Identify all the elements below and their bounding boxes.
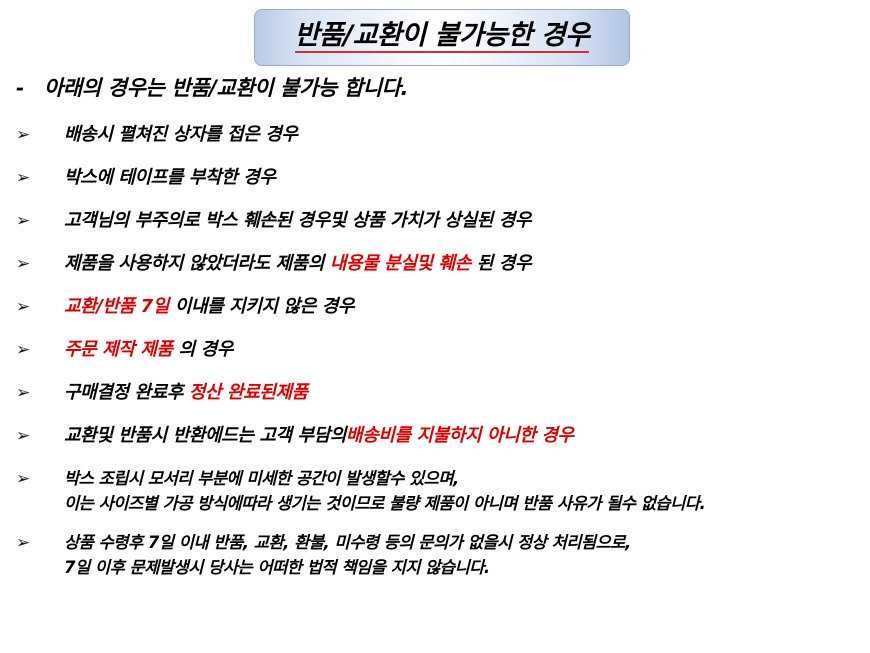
list-item: ➢박스에 테이프를 부착한 경우 <box>0 165 870 191</box>
list-item: ➢구매결정 완료후 정산 완료된제품 <box>0 380 870 406</box>
list-item: ➢박스 조립시 모서리 부분에 미세한 공간이 발생할수 있으며,이는 사이즈별… <box>0 466 870 516</box>
body-text: 배송시 펼쳐진 상자를 접은 경우 <box>64 124 298 145</box>
body-text: 이내를 지키지 않은 경우 <box>169 296 354 317</box>
intro-dash-marker: - <box>16 76 44 100</box>
bullet-arrow-icon: ➢ <box>16 165 64 191</box>
list-item: ➢배송시 펼쳐진 상자를 접은 경우 <box>0 122 870 148</box>
body-text: 의 경우 <box>173 339 233 360</box>
highlighted-text: 내용물 분실및 훼손 <box>330 253 471 274</box>
body-text: 제품을 사용하지 않았더라도 제품의 <box>64 253 330 274</box>
title-underline-rule <box>295 51 590 53</box>
list-item-line: 박스 조립시 모서리 부분에 미세한 공간이 발생할수 있으며, <box>64 466 870 491</box>
list-item-line: 구매결정 완료후 정산 완료된제품 <box>64 380 870 406</box>
list-item-line: 고객님의 부주의로 박스 훼손된 경우및 상품 가치가 상실된 경우 <box>64 208 870 234</box>
highlighted-text: 주문 제작 제품 <box>64 339 173 360</box>
list-item: ➢고객님의 부주의로 박스 훼손된 경우및 상품 가치가 상실된 경우 <box>0 208 870 234</box>
highlighted-text: 배송비를 지불하지 아니한 경우 <box>346 425 574 446</box>
title-banner: 반품/교환이 불가능한 경우 <box>254 9 630 66</box>
body-text: 상품 수령후 7일 이내 반품, 교환, 환불, 미수령 등의 문의가 없을시 … <box>64 533 631 552</box>
list-item: ➢상품 수령후 7일 이내 반품, 교환, 환불, 미수령 등의 문의가 없을시… <box>0 530 870 580</box>
list-item-body: 상품 수령후 7일 이내 반품, 교환, 환불, 미수령 등의 문의가 없을시 … <box>64 530 870 580</box>
list-item-line: 상품 수령후 7일 이내 반품, 교환, 환불, 미수령 등의 문의가 없을시 … <box>64 530 870 555</box>
title-text-wrap: 반품/교환이 불가능한 경우 <box>295 22 590 53</box>
list-item-body: 배송시 펼쳐진 상자를 접은 경우 <box>64 122 870 148</box>
list-item-body: 박스 조립시 모서리 부분에 미세한 공간이 발생할수 있으며,이는 사이즈별 … <box>64 466 870 516</box>
bullet-arrow-icon: ➢ <box>16 208 64 234</box>
body-text: 교환및 반품시 반환에드는 고객 부담의 <box>64 425 346 446</box>
body-text: 7일 이후 문제발생시 당사는 어떠한 법적 책임을 지지 않습니다. <box>64 558 490 577</box>
list-item: ➢제품을 사용하지 않았더라도 제품의 내용물 분실및 훼손 된 경우 <box>0 251 870 277</box>
bullet-arrow-icon: ➢ <box>16 380 64 406</box>
list-item-body: 교환/반품 7일 이내를 지키지 않은 경우 <box>64 294 870 320</box>
bullet-arrow-icon: ➢ <box>16 530 64 556</box>
bullet-arrow-icon: ➢ <box>16 423 64 449</box>
list-item-body: 고객님의 부주의로 박스 훼손된 경우및 상품 가치가 상실된 경우 <box>64 208 870 234</box>
body-text: 박스 조립시 모서리 부분에 미세한 공간이 발생할수 있으며, <box>64 469 459 488</box>
bullet-arrow-icon: ➢ <box>16 337 64 363</box>
conditions-list: ➢배송시 펼쳐진 상자를 접은 경우➢박스에 테이프를 부착한 경우➢고객님의 … <box>0 122 870 594</box>
list-item-line: 7일 이후 문제발생시 당사는 어떠한 법적 책임을 지지 않습니다. <box>64 555 870 580</box>
list-item-line: 배송시 펼쳐진 상자를 접은 경우 <box>64 122 870 148</box>
highlighted-text: 정산 완료된제품 <box>189 382 308 403</box>
body-text: 된 경우 <box>471 253 531 274</box>
list-item: ➢주문 제작 제품 의 경우 <box>0 337 870 363</box>
list-item-body: 제품을 사용하지 않았더라도 제품의 내용물 분실및 훼손 된 경우 <box>64 251 870 277</box>
intro-line: - 아래의 경우는 반품/교환이 불가능 합니다. <box>16 72 408 102</box>
bullet-arrow-icon: ➢ <box>16 294 64 320</box>
body-text: 이는 사이즈별 가공 방식에따라 생기는 것이므로 불량 제품이 아니며 반품 … <box>64 494 705 513</box>
list-item-line: 이는 사이즈별 가공 방식에따라 생기는 것이므로 불량 제품이 아니며 반품 … <box>64 491 870 516</box>
list-item-body: 박스에 테이프를 부착한 경우 <box>64 165 870 191</box>
body-text: 고객님의 부주의로 박스 훼손된 경우및 상품 가치가 상실된 경우 <box>64 210 531 231</box>
list-item: ➢교환/반품 7일 이내를 지키지 않은 경우 <box>0 294 870 320</box>
list-item-line: 박스에 테이프를 부착한 경우 <box>64 165 870 191</box>
page-title: 반품/교환이 불가능한 경우 <box>295 22 590 49</box>
list-item-line: 주문 제작 제품 의 경우 <box>64 337 870 363</box>
bullet-arrow-icon: ➢ <box>16 122 64 148</box>
list-item-body: 교환및 반품시 반환에드는 고객 부담의배송비를 지불하지 아니한 경우 <box>64 423 870 449</box>
list-item-body: 주문 제작 제품 의 경우 <box>64 337 870 363</box>
intro-text: 아래의 경우는 반품/교환이 불가능 합니다. <box>44 72 408 102</box>
bullet-arrow-icon: ➢ <box>16 251 64 277</box>
highlighted-text: 교환/반품 7일 <box>64 296 169 317</box>
bullet-arrow-icon: ➢ <box>16 466 64 492</box>
list-item-line: 교환및 반품시 반환에드는 고객 부담의배송비를 지불하지 아니한 경우 <box>64 423 870 449</box>
list-item-line: 교환/반품 7일 이내를 지키지 않은 경우 <box>64 294 870 320</box>
body-text: 박스에 테이프를 부착한 경우 <box>64 167 276 188</box>
list-item-body: 구매결정 완료후 정산 완료된제품 <box>64 380 870 406</box>
body-text: 구매결정 완료후 <box>64 382 189 403</box>
list-item: ➢교환및 반품시 반환에드는 고객 부담의배송비를 지불하지 아니한 경우 <box>0 423 870 449</box>
list-item-line: 제품을 사용하지 않았더라도 제품의 내용물 분실및 훼손 된 경우 <box>64 251 870 277</box>
